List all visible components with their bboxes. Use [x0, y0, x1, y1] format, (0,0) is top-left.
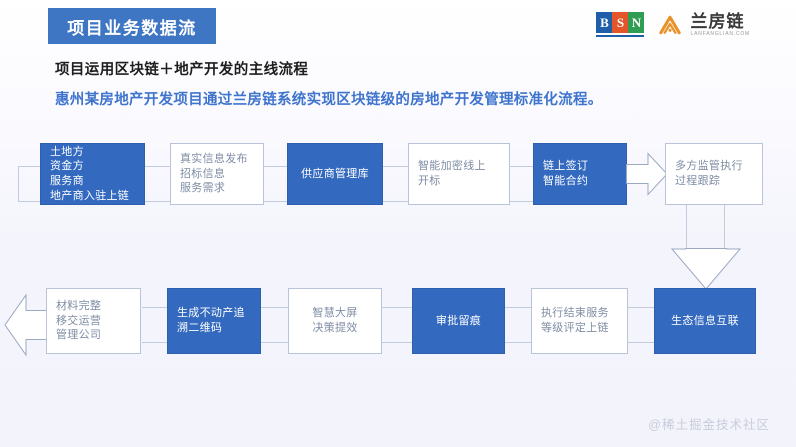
- flow-node-label: 执行结束服务等级评定上链: [541, 306, 627, 335]
- arrow-left-icon: [4, 292, 48, 358]
- connector-n8-n7: [142, 307, 170, 343]
- connector-n2-n3: [262, 166, 288, 202]
- page-title: 项目业务数据流: [67, 14, 197, 39]
- flow-node-ecosystem-interconnect[interactable]: 生态信息互联: [654, 288, 756, 354]
- flow-node-encrypted-bid-opening[interactable]: 智能加密线上开标: [408, 143, 510, 205]
- lanfanglian-logo: 兰房链 LANFANGLIAN.COM: [657, 13, 750, 37]
- flow-node-label: 生态信息互联: [655, 314, 755, 329]
- flow-node-property-qrcode[interactable]: 生成不动产追溯二维码: [167, 288, 261, 354]
- connector-n10-n9: [381, 307, 413, 343]
- page-title-badge: 项目业务数据流: [48, 8, 216, 44]
- connector-n6-down: [686, 205, 725, 250]
- connector-n4-n5: [508, 166, 534, 202]
- bsn-letter-b-icon: B: [596, 12, 612, 33]
- headline: 项目运用区块链＋地产开发的主线流程: [55, 58, 308, 79]
- lanfanglian-mark-icon: [657, 13, 684, 37]
- flow-node-label: 智能加密线上开标: [418, 159, 509, 188]
- logo-group: B S N 兰房链 LANFANGLIAN.COM: [596, 12, 750, 37]
- lanfanglian-name-en: LANFANGLIAN.COM: [690, 32, 750, 37]
- flow-node-label: 材料完整移交运营管理公司: [56, 299, 140, 343]
- bsn-logo: B S N: [596, 12, 644, 37]
- flow-node-label: 多方监管执行过程跟踪: [675, 159, 762, 188]
- flow-node-label: 链上签订智能合约: [543, 159, 626, 188]
- arrow-down-icon: [671, 248, 741, 290]
- flow-node-supplier-library[interactable]: 供应商管理库: [287, 143, 383, 205]
- flow-node-material-handover[interactable]: 材料完整移交运营管理公司: [46, 288, 141, 354]
- watermark: @稀土掘金技术社区: [648, 414, 770, 433]
- slide-canvas: 项目业务数据流 B S N 兰房链 LANFANGLIAN.COM: [0, 0, 796, 447]
- flow-node-label: 审批留痕: [413, 314, 504, 329]
- flow-node-info-release[interactable]: 真实信息发布招标信息服务需求: [170, 143, 264, 205]
- flow-node-smart-screen-decision[interactable]: 智慧大屏决策提效: [288, 288, 382, 354]
- bsn-letter-s-icon: S: [612, 12, 628, 33]
- subheadline: 惠州某房地产开发项目通过兰房链系统实现区块链级的房地产开发管理标准化流程。: [55, 88, 603, 109]
- flow-node-label: 供应商管理库: [288, 167, 382, 182]
- flow-node-land-parties[interactable]: 土地方资金方服务商地产商入驻上链: [40, 143, 145, 205]
- connector-left-entry-vertical: [18, 166, 19, 202]
- lanfanglian-wordmark: 兰房链 LANFANGLIAN.COM: [690, 13, 750, 37]
- flow-node-approval-trace[interactable]: 审批留痕: [412, 288, 505, 354]
- connector-n9-n8: [261, 307, 289, 343]
- flow-node-multiparty-supervision[interactable]: 多方监管执行过程跟踪: [665, 143, 763, 205]
- arrow-right-icon: [626, 152, 668, 196]
- flow-node-label: 生成不动产追溯二维码: [177, 306, 260, 335]
- flow-node-onchain-smart-contract[interactable]: 链上签订智能合约: [533, 143, 627, 205]
- flow-node-service-rating-onchain[interactable]: 执行结束服务等级评定上链: [531, 288, 628, 354]
- flow-node-label: 真实信息发布招标信息服务需求: [180, 152, 263, 196]
- flow-node-label: 土地方资金方服务商地产商入驻上链: [50, 145, 144, 203]
- connector-n11-n10: [504, 307, 532, 343]
- connector-n3-n4: [381, 166, 409, 202]
- connector-n1-n2: [144, 166, 172, 202]
- bsn-letter-n-icon: N: [628, 12, 644, 33]
- bsn-underline: [596, 35, 644, 37]
- connector-n12-n11: [627, 307, 655, 343]
- flow-node-label: 智慧大屏决策提效: [289, 306, 381, 335]
- lanfanglian-name-cn: 兰房链: [690, 13, 750, 30]
